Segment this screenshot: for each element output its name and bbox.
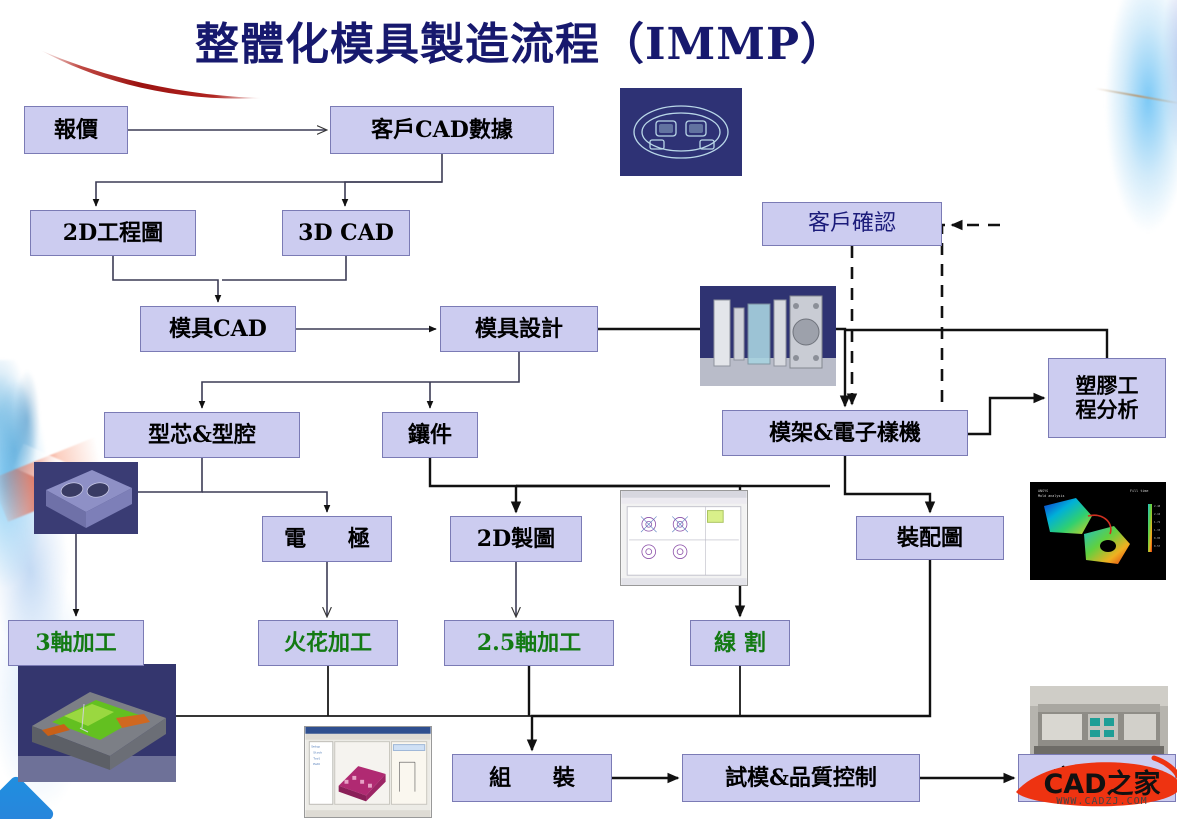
plastic-analysis-line2: 程分析 <box>1076 398 1139 422</box>
node-electrode[interactable]: 電 極 <box>262 516 392 562</box>
svg-text:Path: Path <box>313 762 320 766</box>
node-2d-drafting[interactable]: 2D製圖 <box>450 516 582 562</box>
product-wireframe-image <box>620 88 742 176</box>
svg-text:0.57: 0.57 <box>1154 544 1161 548</box>
watermark-url: WWW.CADZJ.COM <box>1022 796 1177 807</box>
node-trial-and-quality-control[interactable]: 試模&品質控制 <box>682 754 920 802</box>
cam-toolpath-image <box>18 664 176 782</box>
node-quote[interactable]: 報價 <box>24 106 128 154</box>
node-core-and-cavity[interactable]: 型芯&型腔 <box>104 412 300 458</box>
node-assembly[interactable]: 組 裝 <box>452 754 612 802</box>
slide-canvas: 整體化模具製造流程（IMMP） <box>0 0 1177 819</box>
svg-text:Setup: Setup <box>311 745 320 749</box>
background-watercolor-right <box>1088 0 1177 280</box>
svg-text:2.48: 2.48 <box>1154 504 1161 508</box>
svg-text:Stock: Stock <box>313 750 322 754</box>
node-mold-cad[interactable]: 模具CAD <box>140 306 296 352</box>
node-insert[interactable]: 鑲件 <box>382 412 478 458</box>
background-hairline <box>1095 88 1177 105</box>
cae-color-plot-image: ANSYSMold analysis Fill time 2.482.10 1.… <box>1030 482 1166 580</box>
node-mold-design[interactable]: 模具設計 <box>440 306 598 352</box>
node-3d-cad[interactable]: 3D CAD <box>282 210 410 256</box>
svg-text:1.33: 1.33 <box>1154 528 1161 532</box>
flow-connectors <box>0 0 1177 819</box>
svg-text:Mold analysis: Mold analysis <box>1038 494 1065 498</box>
node-plastic-engineering-analysis[interactable]: 塑膠工 程分析 <box>1048 358 1166 438</box>
core-cavity-3d-image <box>34 462 138 534</box>
cam-model-window-image: SetupStock ToolPath <box>304 726 432 818</box>
node-customer-confirmation[interactable]: 客戶確認 <box>762 202 942 246</box>
node-2d-engineering-drawing[interactable]: 2D工程圖 <box>30 210 196 256</box>
svg-text:1.72: 1.72 <box>1154 520 1161 524</box>
node-customer-cad-data[interactable]: 客戶CAD數據 <box>330 106 554 154</box>
slide-title: 整體化模具製造流程（IMMP） <box>0 8 1040 72</box>
node-edm-machining[interactable]: 火花加工 <box>258 620 398 666</box>
2d-cad-drawing-image <box>620 490 748 586</box>
node-moldbase-and-electronic-model[interactable]: 模架&電子樣機 <box>722 410 968 456</box>
svg-text:0.95: 0.95 <box>1154 536 1161 540</box>
node-assembly-drawing[interactable]: 裝配圖 <box>856 516 1004 560</box>
svg-text:2.10: 2.10 <box>1154 512 1161 516</box>
node-wire-cutting[interactable]: 線 割 <box>690 620 790 666</box>
plastic-analysis-line1: 塑膠工 <box>1076 374 1139 398</box>
svg-text:Tool: Tool <box>313 756 320 760</box>
background-watercolor-left-deep <box>0 330 95 590</box>
node-3-axis-machining[interactable]: 3軸加工 <box>8 620 144 666</box>
svg-text:ANSYS: ANSYS <box>1038 489 1048 493</box>
real-mold-photo-image <box>1030 686 1168 764</box>
mold-assembly-image <box>700 286 836 386</box>
svg-text:Fill time: Fill time <box>1130 489 1148 493</box>
node-2-5-axis-machining[interactable]: 2.5軸加工 <box>444 620 614 666</box>
